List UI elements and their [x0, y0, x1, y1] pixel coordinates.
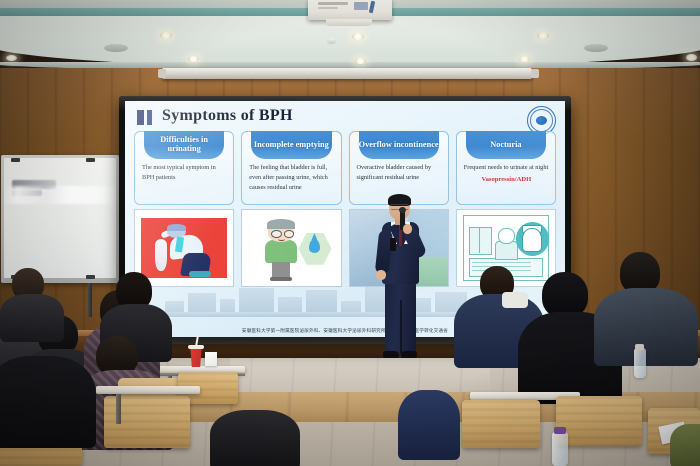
whiteboard-clip [86, 275, 95, 279]
projection-screen-roller [162, 68, 532, 79]
whiteboard-glare [4, 186, 116, 204]
presenter-shoe [401, 351, 417, 358]
presenter-hand [376, 270, 386, 280]
symptom-card: Incomplete emptying The feeling that bla… [241, 131, 341, 205]
lecture-hall-scene: Symptoms of BPH Difficulties in urinatin… [0, 0, 700, 466]
audience-shoulders [594, 288, 698, 366]
symptom-card: Difficulties in urinating The most typic… [134, 131, 234, 205]
ceiling-projector [308, 0, 392, 20]
sad-elderly-man-waterdrop-illustration [241, 209, 341, 287]
symptom-card-note: Vasopressin/ADH [464, 175, 549, 186]
audience-member [210, 400, 300, 466]
lecture-chair[interactable] [462, 400, 540, 448]
symptom-card-text: Overactive bladder caused by significant… [357, 164, 432, 181]
roller-cap-right [531, 69, 539, 78]
symptom-card-text: The feeling that bladder is full, even a… [249, 164, 328, 191]
ceiling-downlight [160, 32, 172, 39]
ceiling-vent [584, 44, 608, 52]
whiteboard-clip [86, 158, 95, 162]
smoke-detector-icon [327, 38, 336, 44]
symptom-card-text: The most typical symptom in BPH patients [142, 164, 216, 181]
ceiling-downlight [6, 55, 17, 61]
audience-member [604, 252, 700, 382]
title-accent-bars [137, 110, 152, 125]
lecture-chair[interactable] [556, 396, 642, 446]
ceiling-downlight [537, 32, 549, 39]
presenter-hand [403, 224, 412, 234]
ceiling-downlight [355, 58, 366, 64]
audience-member [398, 390, 468, 466]
symptom-card-title: Nocturia [490, 141, 521, 150]
page-title: Symptoms of BPH [162, 107, 293, 125]
ceiling-downlight [519, 56, 530, 62]
symptom-card-body: The most typical symptom in BPH patients [142, 163, 227, 183]
symptom-card-header: Difficulties in urinating [144, 131, 224, 159]
symptom-card: Nocturia Frequent needs to urinate at ni… [456, 131, 556, 205]
symptom-card-body: Overactive bladder caused by significant… [357, 163, 442, 183]
audience-member [670, 418, 700, 466]
audience-member [0, 356, 110, 466]
symptom-card-title: Difficulties in urinating [144, 136, 224, 153]
symptom-card-text: Frequent needs to urinate at night [464, 164, 548, 171]
whiteboard-clip [11, 158, 20, 162]
ceiling-downlight [188, 56, 199, 62]
symptom-card-title: Overflow incontinence [359, 141, 439, 150]
bottle-cap [554, 427, 566, 434]
ceiling-downlight [686, 54, 697, 61]
audience-shoulders [0, 356, 96, 448]
water-bottle [552, 432, 568, 466]
symptom-card-body: The feeling that bladder is full, even a… [249, 163, 334, 194]
roller-cap-left [158, 69, 166, 78]
handheld-device [390, 238, 396, 251]
symptom-card-header: Overflow incontinence [359, 131, 439, 159]
audience-shoulders [670, 424, 700, 466]
audience-shoulders [210, 410, 300, 466]
audience-shoulders [398, 390, 460, 460]
symptom-card-title: Incomplete emptying [254, 141, 329, 150]
presenter-shoe [383, 351, 399, 358]
bottle-cap [635, 344, 644, 350]
symptom-card-header: Incomplete emptying [251, 131, 331, 159]
ceiling-vent [104, 44, 128, 52]
water-bottle [634, 348, 646, 378]
title-accent-bar [147, 110, 152, 125]
symptom-card-body: Frequent needs to urinate at night Vasop… [464, 163, 549, 186]
desk [96, 386, 200, 394]
title-accent-bar [137, 110, 144, 125]
ceiling-downlight [352, 33, 364, 40]
presenter [370, 196, 430, 366]
whiteboard-surface [4, 158, 116, 278]
symptom-card-list: Difficulties in urinating The most typic… [134, 131, 556, 205]
audience-shoulders [0, 294, 64, 342]
symptom-card-header: Nocturia [466, 131, 546, 159]
seal-inner-mark [536, 116, 547, 125]
desk-leg [116, 394, 121, 424]
